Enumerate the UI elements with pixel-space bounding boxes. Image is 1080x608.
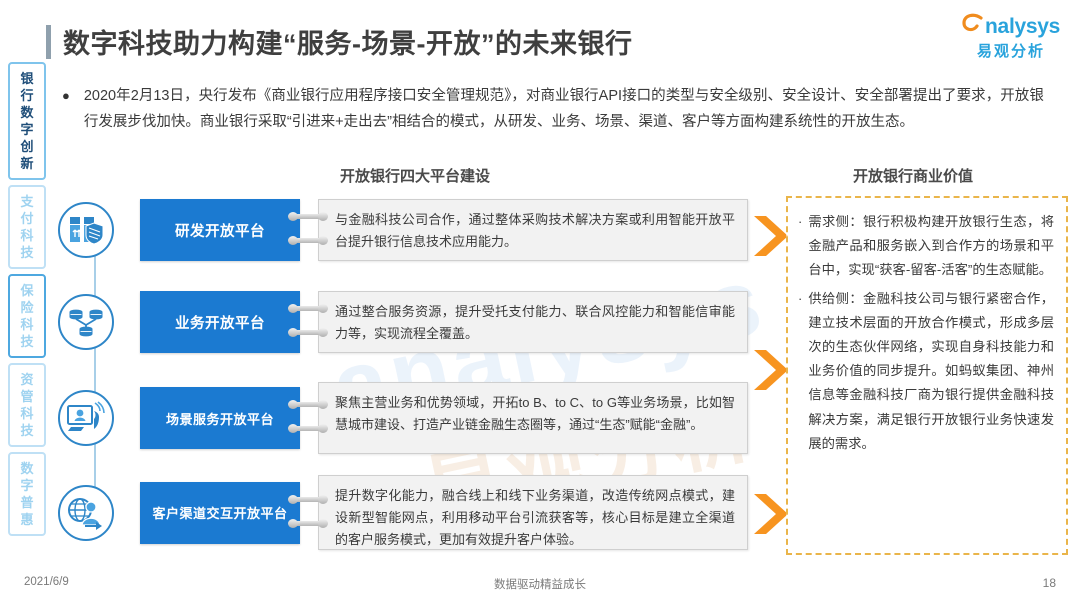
connector-pins [288,296,324,348]
connector-pins [288,487,324,539]
platform-name: 研发开放平台 [175,220,265,241]
title-text: 数字科技助力构建“服务-场景-开放”的未来银行 [63,22,632,61]
value-bullet-item: · 需求侧：银行积极构建开放银行生态，将金融产品和服务嵌入到合作方的场景和平台中… [798,210,1054,283]
sidebar-item-label: 资管科技 [20,371,33,439]
intro-paragraph: ● 2020年2月13日，央行发布《商业银行应用程序接口安全管理规范》，对商业银… [62,84,1062,135]
logo-chinese-name: 易观分析 [962,40,1060,61]
value-body: 金融科技公司与银行紧密合作，建立技术层面的开放合作模式，形成多层次的生态伙伴网络… [808,291,1054,451]
sidebar-item-payment-tech[interactable]: 支付科技 [8,185,46,269]
intro-bullet-icon: ● [62,84,70,135]
logo-swoosh-icon [962,12,984,38]
value-bullet-item: · 供给侧：金融科技公司与银行紧密合作，建立技术层面的开放合作模式，形成多层次的… [798,287,1054,456]
sidebar-item-label: 支付科技 [20,193,33,261]
platform-name-box[interactable]: 场景服务开放平台 [140,387,300,449]
analysys-logo: nalysys 易观分析 [962,12,1060,61]
slide-root: analysys 易观分析 数字科技助力构建“服务-场景-开放”的未来银行 na… [0,0,1080,608]
bullet-dot-icon: · [798,287,802,456]
footer-tagline: 数据驱动精益成长 [0,576,1080,592]
connector-pins [288,392,324,444]
sidebar: 银行数字创新 支付科技 保险科技 资管科技 数字普惠 [8,62,48,541]
sidebar-item-insurance-tech[interactable]: 保险科技 [8,274,46,358]
logo-wordmark: nalysys [985,16,1060,38]
platform-row: 业务开放平台 通过整合服务资源，提升受托支付能力、联合风控能力和智能信审能力等，… [58,291,748,353]
value-prefix: 需求侧： [808,214,863,229]
sidebar-item-digital-inclusive-finance[interactable]: 数字普惠 [8,452,46,536]
sidebar-item-banking-digital-innovation[interactable]: 银行数字创新 [8,62,46,180]
sidebar-item-asset-management-tech[interactable]: 资管科技 [8,363,46,447]
platform-name: 业务开放平台 [175,312,265,333]
connector-pins [288,204,324,256]
platform-description: 与金融科技公司合作，通过整体采购技术解决方案或利用智能开放平台提升银行信息技术应… [318,199,748,261]
sidebar-item-label: 数字普惠 [20,460,33,528]
platform-description: 聚焦主营业务和优势领域，开拓to B、to C、to G等业务场景，比如智慧城市… [318,382,748,454]
left-column-heading: 开放银行四大平台建设 [340,165,490,186]
value-text: 供给侧：金融科技公司与银行紧密合作，建立技术层面的开放合作模式，形成多层次的生态… [808,287,1054,456]
value-prefix: 供给侧： [808,291,863,306]
sidebar-item-label: 保险科技 [20,282,33,350]
platform-name-box[interactable]: 客户渠道交互开放平台 [140,482,300,544]
intro-text: 2020年2月13日，央行发布《商业银行应用程序接口安全管理规范》，对商业银行A… [84,84,1044,135]
platform-name: 场景服务开放平台 [166,409,274,428]
value-text: 需求侧：银行积极构建开放银行生态，将金融产品和服务嵌入到合作方的场景和平台中，实… [808,210,1054,283]
title-accent-rule [46,25,51,59]
platform-row: 客户渠道交互开放平台 提升数字化能力，融合线上和线下业务渠道，改造传统网点模式，… [58,475,748,550]
screen-user-wifi-icon [58,390,114,446]
platform-name: 客户渠道交互开放平台 [152,503,287,522]
package-shield-icon [58,202,114,258]
globe-user-icon [58,485,114,541]
platform-row: 场景服务开放平台 聚焦主营业务和优势领域，开拓to B、to C、to G等业务… [58,382,748,454]
right-column-heading: 开放银行商业价值 [853,165,973,186]
sidebar-item-label: 银行数字创新 [20,70,33,172]
platform-name-box[interactable]: 业务开放平台 [140,291,300,353]
platform-row: 研发开放平台 与金融科技公司合作，通过整体采购技术解决方案或利用智能开放平台提升… [58,199,748,261]
platform-name-box[interactable]: 研发开放平台 [140,199,300,261]
bullet-dot-icon: · [798,210,802,283]
footer-page-number: 18 [1043,576,1056,590]
page-title: 数字科技助力构建“服务-场景-开放”的未来银行 [46,22,632,61]
platform-description: 通过整合服务资源，提升受托支付能力、联合风控能力和智能信审能力等，实现流程全覆盖… [318,291,748,353]
database-network-icon [58,294,114,350]
platform-description: 提升数字化能力，融合线上和线下业务渠道，改造传统网点模式，建设新型智能网点，利用… [318,475,748,550]
business-value-panel: · 需求侧：银行积极构建开放银行生态，将金融产品和服务嵌入到合作方的场景和平台中… [786,196,1068,555]
